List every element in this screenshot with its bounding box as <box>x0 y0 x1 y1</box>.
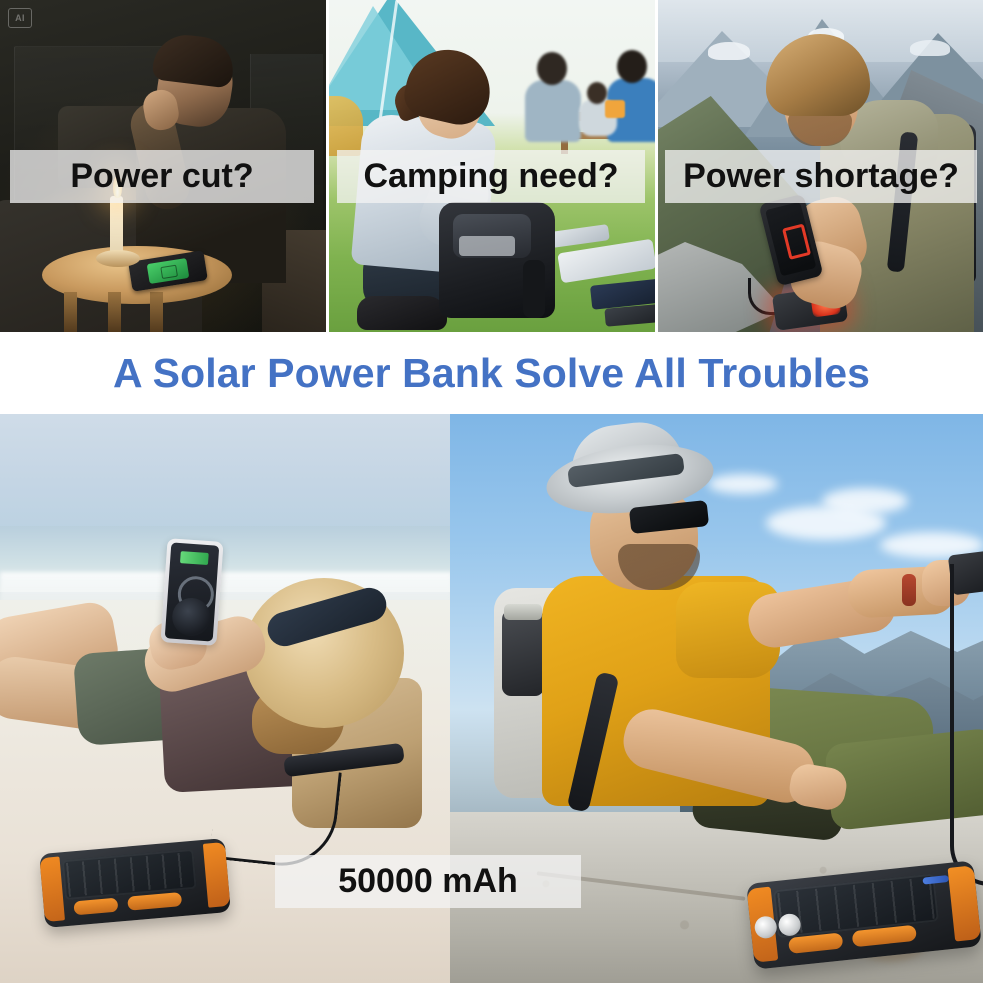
table-leg <box>108 292 121 332</box>
table-leg <box>64 292 77 332</box>
background-person-head <box>617 50 647 83</box>
candle-holder <box>96 250 140 267</box>
backpack-strap <box>523 260 545 318</box>
shoe <box>357 296 447 330</box>
person-man-sitting <box>498 436 983 886</box>
battery-icon <box>180 551 209 565</box>
caption-band-camping-need: Camping need? <box>337 150 645 203</box>
promo-page: AI <box>0 0 983 983</box>
background-person-head <box>537 52 567 85</box>
ground-gear <box>550 224 610 248</box>
caption-band-power-shortage: Power shortage? <box>665 150 977 203</box>
phone-screen <box>165 542 220 641</box>
power-bank-grip <box>127 892 182 911</box>
led-indicator <box>922 875 949 885</box>
page-title: A Solar Power Bank Solve All Troubles <box>113 353 870 394</box>
candle <box>110 196 123 258</box>
caption-text: Power cut? <box>70 158 253 194</box>
headline-band: A Solar Power Bank Solve All Troubles <box>0 332 983 414</box>
bottom-image-strip: 50000 mAh Light=Power 2 USB Output Type-… <box>0 414 983 983</box>
feature-band-capacity: 50000 mAh <box>275 855 581 908</box>
caption-band-power-cut: Power cut? <box>10 150 314 203</box>
caption-text: Camping need? <box>363 158 618 194</box>
phone-screen <box>147 258 190 284</box>
wrist-band <box>902 574 916 606</box>
backpack <box>439 202 555 318</box>
feature-text: 50000 mAh <box>338 863 518 899</box>
hair <box>766 34 870 116</box>
low-battery-icon <box>782 224 811 260</box>
hair <box>151 31 236 88</box>
water-bottle <box>502 610 544 696</box>
background-child-head <box>587 82 607 104</box>
power-bank-edge-left <box>39 856 65 921</box>
ground-mat <box>557 239 655 284</box>
table-leg <box>150 292 163 332</box>
phone <box>160 538 223 646</box>
power-bank-grip <box>73 898 118 916</box>
top-image-strip: AI <box>0 0 983 332</box>
table-item <box>605 100 625 118</box>
bottle-cap <box>504 604 542 620</box>
battery-icon <box>160 265 178 279</box>
caption-text: Power shortage? <box>683 158 959 194</box>
backpack-pocket <box>459 236 515 256</box>
ai-watermark-badge: AI <box>8 8 32 28</box>
charging-cable <box>950 564 983 886</box>
